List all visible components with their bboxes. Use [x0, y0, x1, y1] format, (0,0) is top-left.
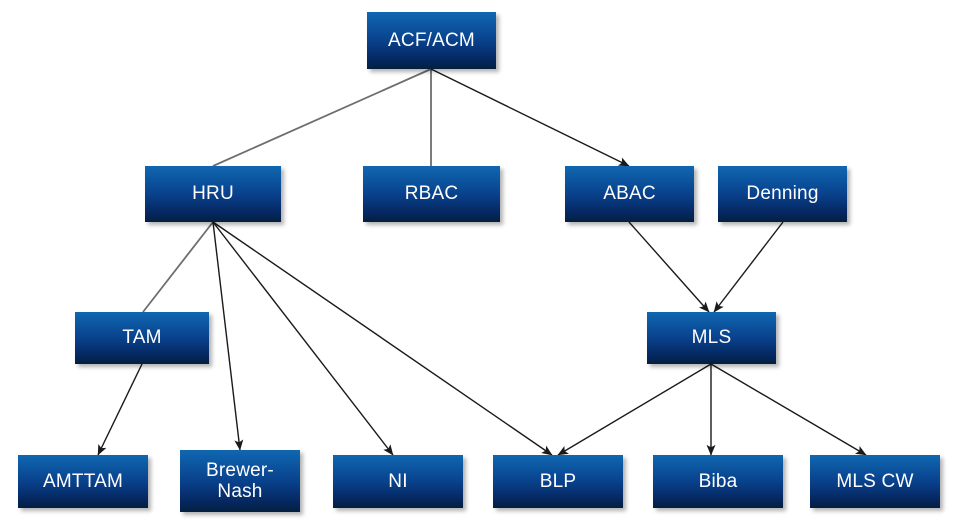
edge-hru-to-ni: [213, 222, 393, 455]
edge-layer: [0, 0, 955, 521]
node-rbac[interactable]: RBAC: [363, 166, 500, 222]
node-blp[interactable]: BLP: [493, 455, 623, 508]
node-label-denning: Denning: [742, 183, 822, 204]
edge-denning-to-mls: [714, 222, 783, 312]
edge-tam-to-amttam: [98, 364, 142, 455]
node-label-biba: Biba: [695, 471, 742, 492]
node-label-mls_cw: MLS CW: [832, 471, 917, 492]
node-label-hru: HRU: [188, 183, 238, 204]
node-label-tam: TAM: [118, 327, 165, 348]
node-mls[interactable]: MLS: [647, 312, 776, 364]
node-mls_cw[interactable]: MLS CW: [810, 455, 940, 508]
edges-group: [98, 69, 866, 455]
edge-hru-to-brewer_nash: [213, 222, 240, 450]
node-label-acf_acm: ACF/ACM: [384, 30, 479, 51]
node-tam[interactable]: TAM: [75, 312, 209, 364]
node-biba[interactable]: Biba: [653, 455, 783, 508]
node-brewer_nash[interactable]: Brewer-Nash: [180, 450, 300, 512]
node-label-brewer_nash: Brewer-Nash: [180, 460, 300, 503]
node-abac[interactable]: ABAC: [565, 166, 694, 222]
node-label-blp: BLP: [536, 471, 581, 492]
edge-mls-to-mls_cw: [711, 364, 866, 455]
node-amttam[interactable]: AMTTAM: [18, 455, 148, 508]
node-hru[interactable]: HRU: [145, 166, 281, 222]
node-denning[interactable]: Denning: [718, 166, 847, 222]
edge-abac-to-mls: [629, 222, 709, 312]
edge-acf_acm-to-abac: [431, 69, 629, 166]
node-acf_acm[interactable]: ACF/ACM: [367, 12, 496, 69]
node-ni[interactable]: NI: [333, 455, 463, 508]
node-label-mls: MLS: [688, 327, 736, 348]
edge-hru-to-tam: [143, 222, 213, 312]
diagram-canvas: ACF/ACMHRURBACABACDenningTAMMLSAMTTAMBre…: [0, 0, 955, 521]
node-label-rbac: RBAC: [401, 183, 463, 204]
node-label-ni: NI: [384, 471, 411, 492]
edge-acf_acm-to-hru: [213, 69, 431, 166]
edge-mls-to-blp: [558, 364, 711, 455]
node-label-abac: ABAC: [599, 183, 660, 204]
edge-hru-to-blp: [213, 222, 552, 455]
node-label-amttam: AMTTAM: [39, 471, 127, 492]
